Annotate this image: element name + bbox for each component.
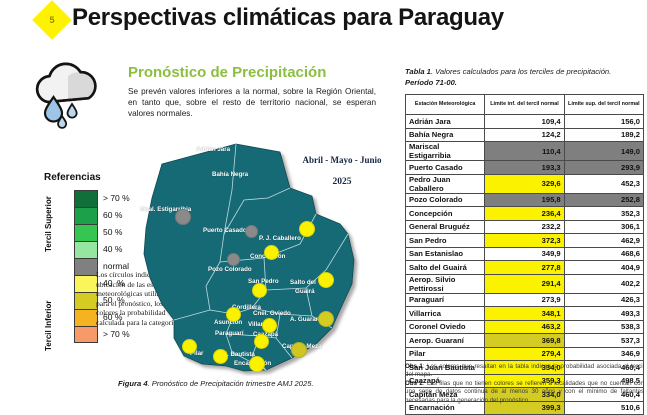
cell-upper-limit: 402,2 xyxy=(564,274,643,293)
table-row[interactable]: San Estanislao349,9468,6 xyxy=(406,247,644,261)
legend-swatch-0 xyxy=(74,190,98,207)
cell-station: Salto del Guairá xyxy=(406,261,485,275)
obs2-label: Obs 2 xyxy=(405,380,423,387)
cell-station: San Estanislao xyxy=(406,247,485,261)
rain-cloud-icon xyxy=(28,62,106,134)
legend-swatch-6 xyxy=(74,292,98,309)
legend-title: Referencias xyxy=(44,172,101,183)
table-row[interactable]: Concepción236,4352,3 xyxy=(406,207,644,221)
map-station-marker-10[interactable] xyxy=(254,334,269,349)
cell-upper-limit: 306,1 xyxy=(564,220,643,234)
map-station-marker-3[interactable] xyxy=(299,221,315,237)
map-station-marker-5[interactable] xyxy=(252,283,267,298)
cell-lower-limit: 110,4 xyxy=(485,142,564,161)
cell-lower-limit: 372,3 xyxy=(485,234,564,248)
map-station-marker-6[interactable] xyxy=(318,272,334,288)
cell-lower-limit: 329,6 xyxy=(485,174,564,193)
figure-caption: Figura 4. Pronóstico de Precipitación tr… xyxy=(118,379,403,388)
cell-station: Concepción xyxy=(406,207,485,221)
cell-station: Adrián Jara xyxy=(406,115,485,129)
cell-station: Pedro Juan Caballero xyxy=(406,174,485,193)
legend-swatch-5 xyxy=(74,275,98,292)
cell-station: General Bruguéz xyxy=(406,220,485,234)
table-head: Estación Meteorológica Límite inf. del t… xyxy=(406,95,644,115)
cell-lower-limit: 236,4 xyxy=(485,207,564,221)
table-row[interactable]: Aerop. Guaraní369,8537,3 xyxy=(406,334,644,348)
obs1-text: : Los colores que resaltan en la tabla i… xyxy=(405,363,644,378)
cell-lower-limit: 277,8 xyxy=(485,261,564,275)
map-station-marker-4[interactable] xyxy=(264,245,279,260)
legend-label-1: 60 % xyxy=(103,207,130,224)
cell-station: Pilar xyxy=(406,347,485,361)
table-row[interactable]: Bahía Negra124,2189,2 xyxy=(406,128,644,142)
legend-swatch-8 xyxy=(74,326,98,343)
cell-lower-limit: 195,8 xyxy=(485,193,564,207)
legend-swatch-7 xyxy=(74,309,98,326)
col-header-lower-limit: Límite inf. del tercil normal xyxy=(485,95,564,115)
forecast-section-title: Pronóstico de Precipitación xyxy=(128,64,326,81)
legend-swatch-4 xyxy=(74,258,98,275)
cell-lower-limit: 349,9 xyxy=(485,247,564,261)
legend-label-0: > 70 % xyxy=(103,190,130,207)
cell-station: Mariscal Estigarribia xyxy=(406,142,485,161)
cell-lower-limit: 273,9 xyxy=(485,293,564,307)
cell-station: Pozo Colorado xyxy=(406,193,485,207)
cell-lower-limit: 124,2 xyxy=(485,128,564,142)
cell-upper-limit: 426,3 xyxy=(564,293,643,307)
cell-station: San Pedro xyxy=(406,234,485,248)
table-row[interactable]: Aerop. Silvio Pettirossi291,4402,2 xyxy=(406,274,644,293)
table-row[interactable]: Mariscal Estigarribia110,4149,0 xyxy=(406,142,644,161)
table-row[interactable]: Villarrica348,1493,3 xyxy=(406,307,644,321)
col-header-station: Estación Meteorológica xyxy=(406,95,485,115)
cell-lower-limit: 463,2 xyxy=(485,320,564,334)
cell-station: Villarrica xyxy=(406,307,485,321)
figure-caption-text: . Pronóstico de Precipitación trimestre … xyxy=(148,379,314,388)
cell-upper-limit: 538,3 xyxy=(564,320,643,334)
map-station-marker-13[interactable] xyxy=(213,349,228,364)
trimester-months: Abril - Mayo - Junio xyxy=(302,155,381,165)
cell-upper-limit: 462,9 xyxy=(564,234,643,248)
cell-lower-limit: 193,3 xyxy=(485,161,564,175)
map-station-marker-8[interactable] xyxy=(226,307,241,322)
page-header: 5 Perspectivas climáticas para Paraguay xyxy=(0,0,647,40)
cell-station: Bahía Negra xyxy=(406,128,485,142)
cell-upper-limit: 537,3 xyxy=(564,334,643,348)
table-row[interactable]: Paraguarí273,9426,3 xyxy=(406,293,644,307)
cell-station: Aerop. Guaraní xyxy=(406,334,485,348)
cell-upper-limit: 149,0 xyxy=(564,142,643,161)
map-station-marker-11[interactable] xyxy=(291,342,307,358)
cell-upper-limit: 252,8 xyxy=(564,193,643,207)
cell-upper-limit: 293,9 xyxy=(564,161,643,175)
obs1-label: Obs 1 xyxy=(405,363,423,370)
cell-lower-limit: 291,4 xyxy=(485,274,564,293)
cell-upper-limit: 189,2 xyxy=(564,128,643,142)
legend-label-8: > 70 % xyxy=(103,326,130,343)
map-station-marker-0[interactable] xyxy=(175,209,191,225)
cell-lower-limit: 348,1 xyxy=(485,307,564,321)
legend-label-2: 50 % xyxy=(103,224,130,241)
map-station-marker-1[interactable] xyxy=(245,225,258,238)
table-row[interactable]: Puerto Casado193,3293,9 xyxy=(406,161,644,175)
table-row[interactable]: Coronel Oviedo463,2538,3 xyxy=(406,320,644,334)
cell-station: Coronel Oviedo xyxy=(406,320,485,334)
cell-upper-limit: 493,3 xyxy=(564,307,643,321)
map-trimester-label: Abril - Mayo - Junio 2025 xyxy=(286,155,398,187)
legend-group-upper: Tercil Superior xyxy=(44,190,56,258)
section-number-label: 5 xyxy=(38,6,66,34)
cell-upper-limit: 156,0 xyxy=(564,115,643,129)
map-station-marker-7[interactable] xyxy=(318,311,334,327)
map-station-marker-14[interactable] xyxy=(249,356,265,372)
cell-upper-limit: 404,9 xyxy=(564,261,643,275)
table-row[interactable]: San Pedro372,3462,9 xyxy=(406,234,644,248)
trimester-year: 2025 xyxy=(286,177,398,187)
table-row[interactable]: Salto del Guairá277,8404,9 xyxy=(406,261,644,275)
map-station-marker-12[interactable] xyxy=(182,339,197,354)
cell-upper-limit: 468,6 xyxy=(564,247,643,261)
table-observations: Obs 1: Los colores que resaltan en la ta… xyxy=(405,363,644,405)
cell-lower-limit: 232,2 xyxy=(485,220,564,234)
map-station-marker-2[interactable] xyxy=(227,253,240,266)
figure-caption-label: Figura 4 xyxy=(118,379,148,388)
cell-station: Aerop. Silvio Pettirossi xyxy=(406,274,485,293)
legend-swatch-3 xyxy=(74,241,98,258)
cell-lower-limit: 109,4 xyxy=(485,115,564,129)
page-root: 5 Perspectivas climáticas para Paraguay … xyxy=(0,0,647,402)
cell-station: Paraguarí xyxy=(406,293,485,307)
cell-upper-limit: 452,3 xyxy=(564,174,643,193)
map-station-marker-9[interactable] xyxy=(262,318,277,333)
legend-swatch-1 xyxy=(74,207,98,224)
legend-swatches xyxy=(74,190,98,343)
table-row[interactable]: Adrián Jara109,4156,0 xyxy=(406,115,644,129)
table-row[interactable]: Pedro Juan Caballero329,6452,3 xyxy=(406,174,644,193)
table-row[interactable]: Pozo Colorado195,8252,8 xyxy=(406,193,644,207)
col-header-upper-limit: Límite sup. del tercil normal xyxy=(564,95,643,115)
table-title-text: . Valores calculados para los terciles d… xyxy=(431,67,611,76)
cell-station: Puerto Casado xyxy=(406,161,485,175)
table-row[interactable]: Pilar279,4346,9 xyxy=(406,347,644,361)
legend-label-3: 40 % xyxy=(103,241,130,258)
table-title-label: Tabla 1 xyxy=(405,67,431,76)
cell-upper-limit: 346,9 xyxy=(564,347,643,361)
table-title-period: Período 71-00. xyxy=(405,78,457,87)
table-row[interactable]: General Bruguéz232,2306,1 xyxy=(406,220,644,234)
obs2-text: : Las filas que no tienen colores se ref… xyxy=(405,380,644,404)
legend-group-lower: Tercil Inferior xyxy=(44,292,56,360)
legend-swatch-2 xyxy=(74,224,98,241)
table-header-row: Estación Meteorológica Límite inf. del t… xyxy=(406,95,644,115)
cell-lower-limit: 279,4 xyxy=(485,347,564,361)
cell-upper-limit: 352,3 xyxy=(564,207,643,221)
page-title: Perspectivas climáticas para Paraguay xyxy=(72,4,504,32)
forecast-section-body: Se prevén valores inferiores a la normal… xyxy=(128,86,376,119)
cell-lower-limit: 369,8 xyxy=(485,334,564,348)
table-title: Tabla 1. Valores calculados para los ter… xyxy=(405,66,645,88)
